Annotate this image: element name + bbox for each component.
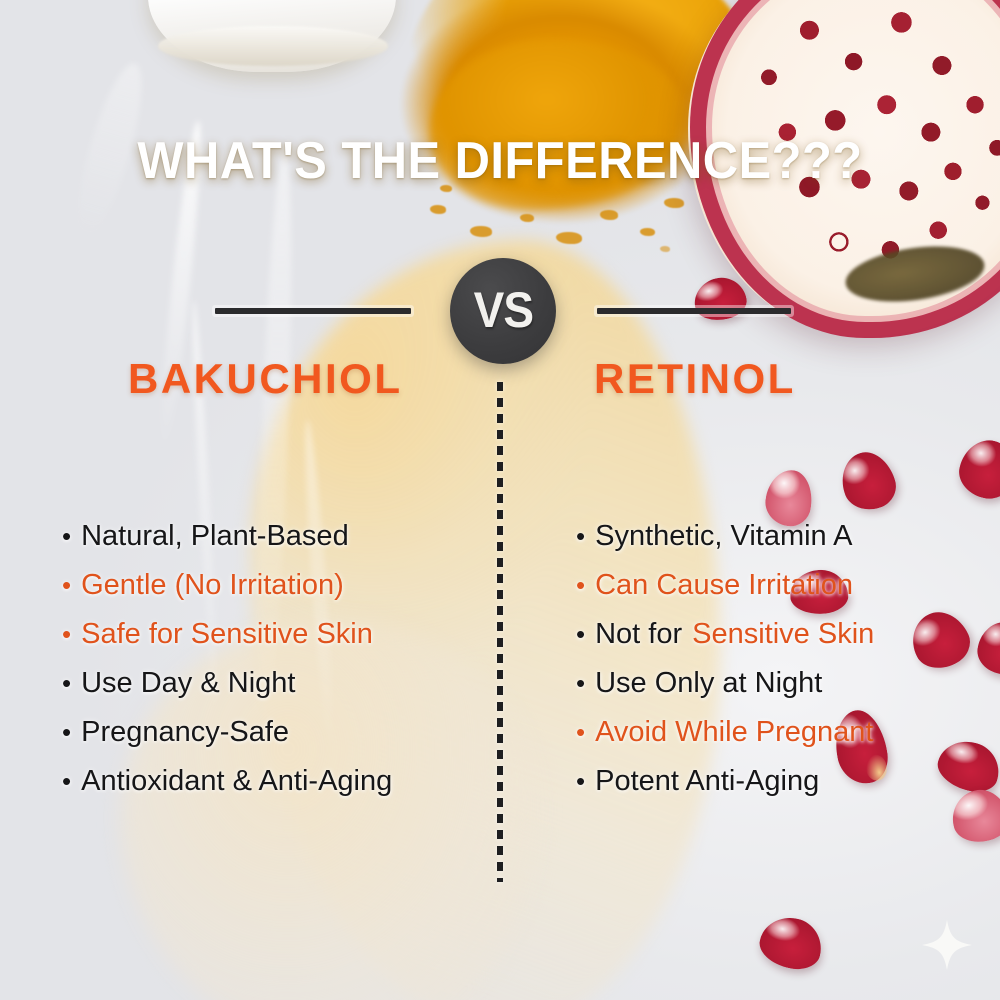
list-item-label: Safe for Sensitive Skin (81, 620, 373, 649)
bullet-dot-icon: • (62, 768, 71, 794)
list-item: • Antioxidant & Anti-Aging (62, 767, 392, 796)
bullet-dot-icon: • (62, 523, 71, 549)
list-item-label: Avoid While Pregnant (595, 718, 873, 747)
list-item: • Use Only at Night (576, 669, 874, 698)
bullet-list-retinol: • Synthetic, Vitamin A • Can Cause Irrit… (576, 522, 874, 796)
list-item: • Use Day & Night (62, 669, 392, 698)
list-item-label: Natural, Plant-Based (81, 522, 349, 551)
bullet-dot-icon: • (576, 572, 585, 598)
bullet-dot-icon: • (62, 719, 71, 745)
list-item-label: Synthetic, Vitamin A (595, 522, 852, 551)
divider-rule-left (215, 308, 411, 314)
list-item: • Safe for Sensitive Skin (62, 620, 392, 649)
comparison-infographic: WHAT'S THE DIFFERENCE??? VS BAKUCHIOL RE… (0, 0, 1000, 1000)
vs-badge: VS (450, 258, 556, 364)
list-item: • Synthetic, Vitamin A (576, 522, 874, 551)
list-item: • Natural, Plant-Based (62, 522, 392, 551)
list-item: • Avoid While Pregnant (576, 718, 874, 747)
vs-label: VS (473, 281, 533, 339)
bullet-dot-icon: • (62, 572, 71, 598)
list-item: • Pregnancy-Safe (62, 718, 392, 747)
bullet-dot-icon: • (576, 719, 585, 745)
bullet-list-bakuchiol: • Natural, Plant-Based • Gentle (No Irri… (62, 522, 392, 796)
list-item-label: Pregnancy-Safe (81, 718, 289, 747)
bullet-dot-icon: • (62, 621, 71, 647)
list-item-label-prefix: Not for (595, 620, 682, 649)
list-item: • Can Cause Irritation (576, 571, 874, 600)
list-item-label: Use Day & Night (81, 669, 295, 698)
bullet-dot-icon: • (576, 670, 585, 696)
divider-rule-right (597, 308, 791, 314)
bullet-dot-icon: • (576, 768, 585, 794)
column-title-retinol: RETINOL (594, 355, 796, 403)
infographic-content: WHAT'S THE DIFFERENCE??? VS BAKUCHIOL RE… (0, 0, 1000, 1000)
column-title-bakuchiol: BAKUCHIOL (128, 355, 402, 403)
list-item-label: Use Only at Night (595, 669, 822, 698)
list-item: • Not for Sensitive Skin (576, 620, 874, 649)
bullet-dot-icon: • (576, 523, 585, 549)
page-title: WHAT'S THE DIFFERENCE??? (30, 131, 970, 191)
list-item-label: Potent Anti-Aging (595, 767, 819, 796)
list-item-label-highlight: Sensitive Skin (692, 620, 874, 649)
list-item: • Potent Anti-Aging (576, 767, 874, 796)
bullet-dot-icon: • (576, 621, 585, 647)
vertical-dashed-divider (497, 382, 503, 882)
list-item-label: Gentle (No Irritation) (81, 571, 344, 600)
bullet-dot-icon: • (62, 670, 71, 696)
list-item: • Gentle (No Irritation) (62, 571, 392, 600)
list-item-label: Antioxidant & Anti-Aging (81, 767, 392, 796)
list-item-label: Can Cause Irritation (595, 571, 853, 600)
